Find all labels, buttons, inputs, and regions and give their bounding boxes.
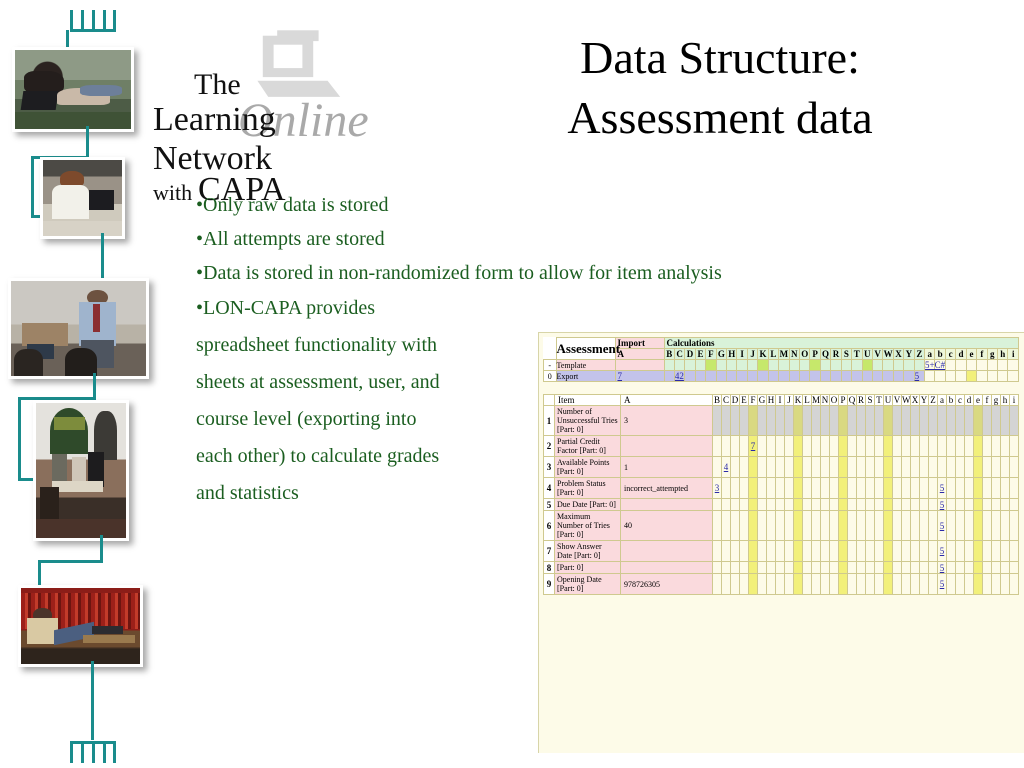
item-name-cell[interactable]: Partial Credit Factor [Part: 0] xyxy=(555,436,621,457)
item-cell-2-e[interactable] xyxy=(974,436,983,457)
table-row[interactable]: 2Partial Credit Factor [Part: 0]7 xyxy=(544,436,1019,457)
item-cell-6-h[interactable] xyxy=(1001,511,1010,541)
item-cell-5-g[interactable] xyxy=(992,499,1001,511)
template-cell-R[interactable] xyxy=(831,360,841,371)
item-cell-5-F[interactable] xyxy=(749,499,758,511)
item-cell-7-M[interactable] xyxy=(812,541,821,562)
item-cell-8-K[interactable] xyxy=(794,562,803,574)
item-cell-3-Q[interactable] xyxy=(848,457,857,478)
export-cell-U[interactable] xyxy=(862,371,872,382)
item-cell-8-Z[interactable] xyxy=(929,562,938,574)
item-cell-8-B[interactable] xyxy=(713,562,722,574)
item-cell-2-H[interactable] xyxy=(767,436,776,457)
export-cell-F[interactable] xyxy=(706,371,716,382)
item-cell-3-H[interactable] xyxy=(767,457,776,478)
column-header-P[interactable]: P xyxy=(810,349,820,360)
item-cell-2-S[interactable] xyxy=(866,436,875,457)
assessment-items-table[interactable]: Item A BCDEFGHIJKLMNOPQRSTUVWXYZabcdefgh… xyxy=(543,394,1019,595)
item-cell-5-M[interactable] xyxy=(812,499,821,511)
item-column-header-g[interactable]: g xyxy=(992,395,1001,406)
item-cell-5-e[interactable] xyxy=(974,499,983,511)
item-cell-3-f[interactable] xyxy=(983,457,992,478)
item-cell-8-h[interactable] xyxy=(1001,562,1010,574)
item-cell-2-f[interactable] xyxy=(983,436,992,457)
item-cell-7-e[interactable] xyxy=(974,541,983,562)
item-cell-8-Q[interactable] xyxy=(848,562,857,574)
item-cell-8-a[interactable]: 5 xyxy=(938,562,947,574)
item-cell-4-D[interactable] xyxy=(731,478,740,499)
item-cell-8-b[interactable] xyxy=(947,562,956,574)
item-row-number[interactable]: 1 xyxy=(544,406,555,436)
item-cell-1-h[interactable] xyxy=(1001,406,1010,436)
item-cell-3-i[interactable] xyxy=(1010,457,1019,478)
item-cell-3-c[interactable] xyxy=(956,457,965,478)
item-cell-5-Z[interactable] xyxy=(929,499,938,511)
item-cell-6-L[interactable] xyxy=(803,511,812,541)
item-cell-1-L[interactable] xyxy=(803,406,812,436)
item-cell-1-S[interactable] xyxy=(866,406,875,436)
export-cell-T[interactable] xyxy=(852,371,862,382)
item-cell-5-V[interactable] xyxy=(893,499,902,511)
item-cell-4-M[interactable] xyxy=(812,478,821,499)
item-cell-7-P[interactable] xyxy=(839,541,848,562)
export-cell-S[interactable] xyxy=(841,371,851,382)
item-cell-1-b[interactable] xyxy=(947,406,956,436)
item-cell-1-P[interactable] xyxy=(839,406,848,436)
item-cell-9-b[interactable] xyxy=(947,574,956,595)
item-cell-5-O[interactable] xyxy=(830,499,839,511)
item-cell-6-D[interactable] xyxy=(731,511,740,541)
table-row[interactable]: 7Show Answer Date [Part: 0]5 xyxy=(544,541,1019,562)
item-cell-2-Q[interactable] xyxy=(848,436,857,457)
item-cell-1-O[interactable] xyxy=(830,406,839,436)
item-cell-2-c[interactable] xyxy=(956,436,965,457)
item-cell-4-b[interactable] xyxy=(947,478,956,499)
item-column-header-T[interactable]: T xyxy=(875,395,884,406)
item-cell-9-R[interactable] xyxy=(857,574,866,595)
template-cell-L[interactable] xyxy=(768,360,778,371)
template-cell-E[interactable] xyxy=(695,360,705,371)
template-cell-N[interactable] xyxy=(789,360,799,371)
item-cell-8-G[interactable] xyxy=(758,562,767,574)
item-cell-4-G[interactable] xyxy=(758,478,767,499)
item-cell-6-B[interactable] xyxy=(713,511,722,541)
item-cell-3-W[interactable] xyxy=(902,457,911,478)
item-cell-5-E[interactable] xyxy=(740,499,749,511)
item-cell-7-T[interactable] xyxy=(875,541,884,562)
item-cell-8-f[interactable] xyxy=(983,562,992,574)
item-column-header-N[interactable]: N xyxy=(821,395,830,406)
item-column-header-b[interactable]: b xyxy=(947,395,956,406)
item-cell-8-Y[interactable] xyxy=(920,562,929,574)
item-cell-3-S[interactable] xyxy=(866,457,875,478)
item-cell-1-C[interactable] xyxy=(722,406,731,436)
item-cell-1-Z[interactable] xyxy=(929,406,938,436)
column-header-H[interactable]: H xyxy=(727,349,737,360)
column-header-D[interactable]: D xyxy=(685,349,695,360)
item-cell-2-L[interactable] xyxy=(803,436,812,457)
item-cell-1-c[interactable] xyxy=(956,406,965,436)
item-cell-7-W[interactable] xyxy=(902,541,911,562)
item-value-cell[interactable]: 3 xyxy=(621,406,713,436)
export-cell-d[interactable] xyxy=(956,371,966,382)
item-cell-4-g[interactable] xyxy=(992,478,1001,499)
item-cell-4-J[interactable] xyxy=(785,478,794,499)
item-cell-2-a[interactable] xyxy=(938,436,947,457)
export-cell-Y[interactable] xyxy=(904,371,914,382)
item-cell-6-P[interactable] xyxy=(839,511,848,541)
item-cell-2-K[interactable] xyxy=(794,436,803,457)
item-cell-2-d[interactable] xyxy=(965,436,974,457)
cell-link[interactable]: 5 xyxy=(940,500,945,510)
export-cell-I[interactable] xyxy=(737,371,747,382)
item-column-header-a[interactable]: a xyxy=(938,395,947,406)
item-cell-3-N[interactable] xyxy=(821,457,830,478)
item-cell-1-V[interactable] xyxy=(893,406,902,436)
item-cell-7-L[interactable] xyxy=(803,541,812,562)
item-column-header-K[interactable]: K xyxy=(794,395,803,406)
export-cell-W[interactable] xyxy=(883,371,893,382)
item-cell-7-I[interactable] xyxy=(776,541,785,562)
item-cell-8-F[interactable] xyxy=(749,562,758,574)
item-cell-6-X[interactable] xyxy=(911,511,920,541)
table-row[interactable]: 9Opening Date [Part: 0]9787263055 xyxy=(544,574,1019,595)
item-cell-3-C[interactable]: 4 xyxy=(722,457,731,478)
item-cell-9-F[interactable] xyxy=(749,574,758,595)
item-name-cell[interactable]: Due Date [Part: 0] xyxy=(555,499,621,511)
export-cell-N[interactable] xyxy=(789,371,799,382)
item-row-number[interactable]: 9 xyxy=(544,574,555,595)
column-header-I[interactable]: I xyxy=(737,349,747,360)
item-cell-7-g[interactable] xyxy=(992,541,1001,562)
item-cell-8-N[interactable] xyxy=(821,562,830,574)
item-cell-3-B[interactable] xyxy=(713,457,722,478)
item-cell-3-D[interactable] xyxy=(731,457,740,478)
item-value-cell[interactable]: 1 xyxy=(621,457,713,478)
item-cell-9-N[interactable] xyxy=(821,574,830,595)
item-cell-3-X[interactable] xyxy=(911,457,920,478)
item-cell-2-Y[interactable] xyxy=(920,436,929,457)
column-header-U[interactable]: U xyxy=(862,349,872,360)
item-cell-6-G[interactable] xyxy=(758,511,767,541)
item-cell-5-W[interactable] xyxy=(902,499,911,511)
item-cell-1-X[interactable] xyxy=(911,406,920,436)
item-cell-1-H[interactable] xyxy=(767,406,776,436)
export-cell-f[interactable] xyxy=(977,371,987,382)
item-cell-9-I[interactable] xyxy=(776,574,785,595)
item-cell-2-W[interactable] xyxy=(902,436,911,457)
item-cell-8-c[interactable] xyxy=(956,562,965,574)
item-cell-8-S[interactable] xyxy=(866,562,875,574)
item-cell-6-W[interactable] xyxy=(902,511,911,541)
column-header-F[interactable]: F xyxy=(706,349,716,360)
item-cell-6-c[interactable] xyxy=(956,511,965,541)
template-formula-link[interactable]: 5+C# xyxy=(925,360,945,370)
template-cell-U[interactable] xyxy=(862,360,872,371)
export-cell-E[interactable] xyxy=(695,371,705,382)
export-cell-i[interactable] xyxy=(1008,371,1019,382)
export-cell-B[interactable] xyxy=(664,371,674,382)
item-cell-7-V[interactable] xyxy=(893,541,902,562)
item-column-header-C[interactable]: C xyxy=(722,395,731,406)
template-cell-B[interactable] xyxy=(664,360,674,371)
item-cell-9-Z[interactable] xyxy=(929,574,938,595)
cell-link[interactable]: 4 xyxy=(724,462,729,472)
item-cell-8-C[interactable] xyxy=(722,562,731,574)
template-cell-i[interactable] xyxy=(1008,360,1019,371)
item-cell-7-J[interactable] xyxy=(785,541,794,562)
item-row-number[interactable]: 8 xyxy=(544,562,555,574)
item-cell-7-c[interactable] xyxy=(956,541,965,562)
item-cell-2-T[interactable] xyxy=(875,436,884,457)
item-cell-7-G[interactable] xyxy=(758,541,767,562)
cell-link[interactable]: 5 xyxy=(940,579,945,589)
template-cell-g[interactable] xyxy=(987,360,997,371)
item-name-cell[interactable]: Maximum Number of Tries [Part: 0] xyxy=(555,511,621,541)
item-cell-6-Z[interactable] xyxy=(929,511,938,541)
item-cell-9-B[interactable] xyxy=(713,574,722,595)
item-cell-7-E[interactable] xyxy=(740,541,749,562)
item-value-cell[interactable] xyxy=(621,562,713,574)
item-cell-6-e[interactable] xyxy=(974,511,983,541)
item-cell-4-Y[interactable] xyxy=(920,478,929,499)
item-cell-8-T[interactable] xyxy=(875,562,884,574)
item-cell-4-U[interactable] xyxy=(884,478,893,499)
item-cell-9-T[interactable] xyxy=(875,574,884,595)
item-cell-9-f[interactable] xyxy=(983,574,992,595)
item-value-cell[interactable] xyxy=(621,499,713,511)
item-cell-1-Y[interactable] xyxy=(920,406,929,436)
item-cell-2-X[interactable] xyxy=(911,436,920,457)
item-cell-9-e[interactable] xyxy=(974,574,983,595)
item-cell-7-b[interactable] xyxy=(947,541,956,562)
item-cell-2-i[interactable] xyxy=(1010,436,1019,457)
item-cell-5-I[interactable] xyxy=(776,499,785,511)
item-cell-2-P[interactable] xyxy=(839,436,848,457)
column-header-K[interactable]: K xyxy=(758,349,768,360)
item-cell-4-f[interactable] xyxy=(983,478,992,499)
item-cell-3-h[interactable] xyxy=(1001,457,1010,478)
item-cell-9-P[interactable] xyxy=(839,574,848,595)
item-cell-8-V[interactable] xyxy=(893,562,902,574)
item-name-cell[interactable]: [Part: 0] xyxy=(555,562,621,574)
item-cell-6-b[interactable] xyxy=(947,511,956,541)
item-cell-1-g[interactable] xyxy=(992,406,1001,436)
column-header-B[interactable]: B xyxy=(664,349,674,360)
item-cell-7-X[interactable] xyxy=(911,541,920,562)
item-cell-7-h[interactable] xyxy=(1001,541,1010,562)
item-column-header-L[interactable]: L xyxy=(803,395,812,406)
item-cell-3-b[interactable] xyxy=(947,457,956,478)
template-cell-C[interactable] xyxy=(674,360,684,371)
cell-link[interactable]: 5 xyxy=(915,371,920,381)
item-cell-8-M[interactable] xyxy=(812,562,821,574)
item-cell-2-Z[interactable] xyxy=(929,436,938,457)
item-cell-6-a[interactable]: 5 xyxy=(938,511,947,541)
table-row[interactable]: 1Number of Unsuccessful Tries [Part: 0]3 xyxy=(544,406,1019,436)
item-cell-1-i[interactable] xyxy=(1010,406,1019,436)
item-cell-5-P[interactable] xyxy=(839,499,848,511)
item-cell-9-h[interactable] xyxy=(1001,574,1010,595)
item-column-header-Q[interactable]: Q xyxy=(848,395,857,406)
table-row[interactable]: 3Available Points [Part: 0]14 xyxy=(544,457,1019,478)
item-cell-4-P[interactable] xyxy=(839,478,848,499)
item-cell-8-L[interactable] xyxy=(803,562,812,574)
item-row-number[interactable]: 2 xyxy=(544,436,555,457)
item-cell-3-I[interactable] xyxy=(776,457,785,478)
template-cell-S[interactable] xyxy=(841,360,851,371)
cell-link[interactable]: 3 xyxy=(715,483,720,493)
item-cell-1-e[interactable] xyxy=(974,406,983,436)
item-column-header-R[interactable]: R xyxy=(857,395,866,406)
item-cell-8-E[interactable] xyxy=(740,562,749,574)
item-cell-9-U[interactable] xyxy=(884,574,893,595)
item-cell-5-N[interactable] xyxy=(821,499,830,511)
template-cell-I[interactable] xyxy=(737,360,747,371)
item-cell-3-Z[interactable] xyxy=(929,457,938,478)
template-cell-h[interactable] xyxy=(998,360,1008,371)
item-cell-8-i[interactable] xyxy=(1010,562,1019,574)
export-cell-h[interactable] xyxy=(998,371,1008,382)
row-label-template[interactable]: Template xyxy=(556,360,615,371)
item-cell-6-f[interactable] xyxy=(983,511,992,541)
column-header-W[interactable]: W xyxy=(883,349,893,360)
template-cell-d[interactable] xyxy=(956,360,966,371)
table-row[interactable]: 6Maximum Number of Tries [Part: 0]405 xyxy=(544,511,1019,541)
item-cell-1-D[interactable] xyxy=(731,406,740,436)
item-row-number[interactable]: 5 xyxy=(544,499,555,511)
item-column-header-h[interactable]: h xyxy=(1001,395,1010,406)
template-cell-D[interactable] xyxy=(685,360,695,371)
item-cell-3-M[interactable] xyxy=(812,457,821,478)
item-cell-9-W[interactable] xyxy=(902,574,911,595)
item-column-header-X[interactable]: X xyxy=(911,395,920,406)
item-column-header-f[interactable]: f xyxy=(983,395,992,406)
column-header-C[interactable]: C xyxy=(674,349,684,360)
item-cell-6-J[interactable] xyxy=(785,511,794,541)
template-cell-M[interactable] xyxy=(779,360,789,371)
item-name-cell[interactable]: Show Answer Date [Part: 0] xyxy=(555,541,621,562)
column-header-L[interactable]: L xyxy=(768,349,778,360)
item-cell-2-h[interactable] xyxy=(1001,436,1010,457)
template-cell-f[interactable] xyxy=(977,360,987,371)
item-value-cell[interactable]: 978726305 xyxy=(621,574,713,595)
item-cell-4-I[interactable] xyxy=(776,478,785,499)
export-cell-a[interactable] xyxy=(925,371,935,382)
item-name-cell[interactable]: Number of Unsuccessful Tries [Part: 0] xyxy=(555,406,621,436)
item-cell-8-W[interactable] xyxy=(902,562,911,574)
column-header-X[interactable]: X xyxy=(893,349,903,360)
column-header-Y[interactable]: Y xyxy=(904,349,914,360)
item-cell-3-U[interactable] xyxy=(884,457,893,478)
item-cell-5-i[interactable] xyxy=(1010,499,1019,511)
item-cell-7-U[interactable] xyxy=(884,541,893,562)
table-row[interactable]: 5Due Date [Part: 0]5 xyxy=(544,499,1019,511)
item-cell-8-U[interactable] xyxy=(884,562,893,574)
item-column-header-O[interactable]: O xyxy=(830,395,839,406)
item-cell-5-f[interactable] xyxy=(983,499,992,511)
item-cell-7-K[interactable] xyxy=(794,541,803,562)
column-header-E[interactable]: E xyxy=(695,349,705,360)
item-cell-7-f[interactable] xyxy=(983,541,992,562)
template-cell-A[interactable] xyxy=(615,360,664,371)
item-cell-2-D[interactable] xyxy=(731,436,740,457)
item-cell-4-V[interactable] xyxy=(893,478,902,499)
item-cell-7-Y[interactable] xyxy=(920,541,929,562)
template-cell-J[interactable] xyxy=(747,360,757,371)
column-header-i[interactable]: i xyxy=(1008,349,1019,360)
export-cell-O[interactable] xyxy=(799,371,809,382)
item-cell-2-V[interactable] xyxy=(893,436,902,457)
item-cell-2-E[interactable] xyxy=(740,436,749,457)
cell-link[interactable]: 5 xyxy=(940,546,945,556)
column-header-g[interactable]: g xyxy=(987,349,997,360)
item-cell-9-g[interactable] xyxy=(992,574,1001,595)
export-cell-e[interactable] xyxy=(966,371,976,382)
item-cell-6-R[interactable] xyxy=(857,511,866,541)
template-cell-Z[interactable] xyxy=(914,360,924,371)
item-column-header-Z[interactable]: Z xyxy=(929,395,938,406)
item-cell-1-G[interactable] xyxy=(758,406,767,436)
item-cell-3-d[interactable] xyxy=(965,457,974,478)
cell-link[interactable]: 7 xyxy=(618,371,623,381)
item-cell-1-E[interactable] xyxy=(740,406,749,436)
item-column-header-i[interactable]: i xyxy=(1010,395,1019,406)
item-column-header-H[interactable]: H xyxy=(767,395,776,406)
item-column-header-M[interactable]: M xyxy=(812,395,821,406)
item-cell-5-R[interactable] xyxy=(857,499,866,511)
item-cell-2-O[interactable] xyxy=(830,436,839,457)
item-cell-5-D[interactable] xyxy=(731,499,740,511)
item-cell-4-h[interactable] xyxy=(1001,478,1010,499)
item-cell-8-g[interactable] xyxy=(992,562,1001,574)
item-cell-4-N[interactable] xyxy=(821,478,830,499)
item-column-header-I[interactable]: I xyxy=(776,395,785,406)
item-cell-8-e[interactable] xyxy=(974,562,983,574)
column-header-S[interactable]: S xyxy=(841,349,851,360)
item-cell-9-S[interactable] xyxy=(866,574,875,595)
item-column-header-E[interactable]: E xyxy=(740,395,749,406)
cell-link[interactable]: 5 xyxy=(940,483,945,493)
item-cell-8-J[interactable] xyxy=(785,562,794,574)
item-cell-9-C[interactable] xyxy=(722,574,731,595)
item-cell-8-D[interactable] xyxy=(731,562,740,574)
item-cell-1-I[interactable] xyxy=(776,406,785,436)
cell-link[interactable]: 5 xyxy=(940,563,945,573)
item-column-header-Y[interactable]: Y xyxy=(920,395,929,406)
item-cell-4-K[interactable] xyxy=(794,478,803,499)
column-header-O[interactable]: O xyxy=(799,349,809,360)
item-column-header-D[interactable]: D xyxy=(731,395,740,406)
column-header-d[interactable]: d xyxy=(956,349,966,360)
cell-link[interactable]: 7 xyxy=(751,441,756,451)
column-header-e[interactable]: e xyxy=(966,349,976,360)
item-cell-3-J[interactable] xyxy=(785,457,794,478)
item-column-header-U[interactable]: U xyxy=(884,395,893,406)
item-cell-6-O[interactable] xyxy=(830,511,839,541)
item-cell-6-K[interactable] xyxy=(794,511,803,541)
item-cell-4-R[interactable] xyxy=(857,478,866,499)
item-cell-6-H[interactable] xyxy=(767,511,776,541)
column-header-b[interactable]: b xyxy=(935,349,945,360)
item-cell-5-d[interactable] xyxy=(965,499,974,511)
item-cell-9-D[interactable] xyxy=(731,574,740,595)
item-cell-6-U[interactable] xyxy=(884,511,893,541)
item-cell-9-Y[interactable] xyxy=(920,574,929,595)
item-cell-6-N[interactable] xyxy=(821,511,830,541)
export-cell-H[interactable] xyxy=(727,371,737,382)
item-cell-4-B[interactable]: 3 xyxy=(713,478,722,499)
